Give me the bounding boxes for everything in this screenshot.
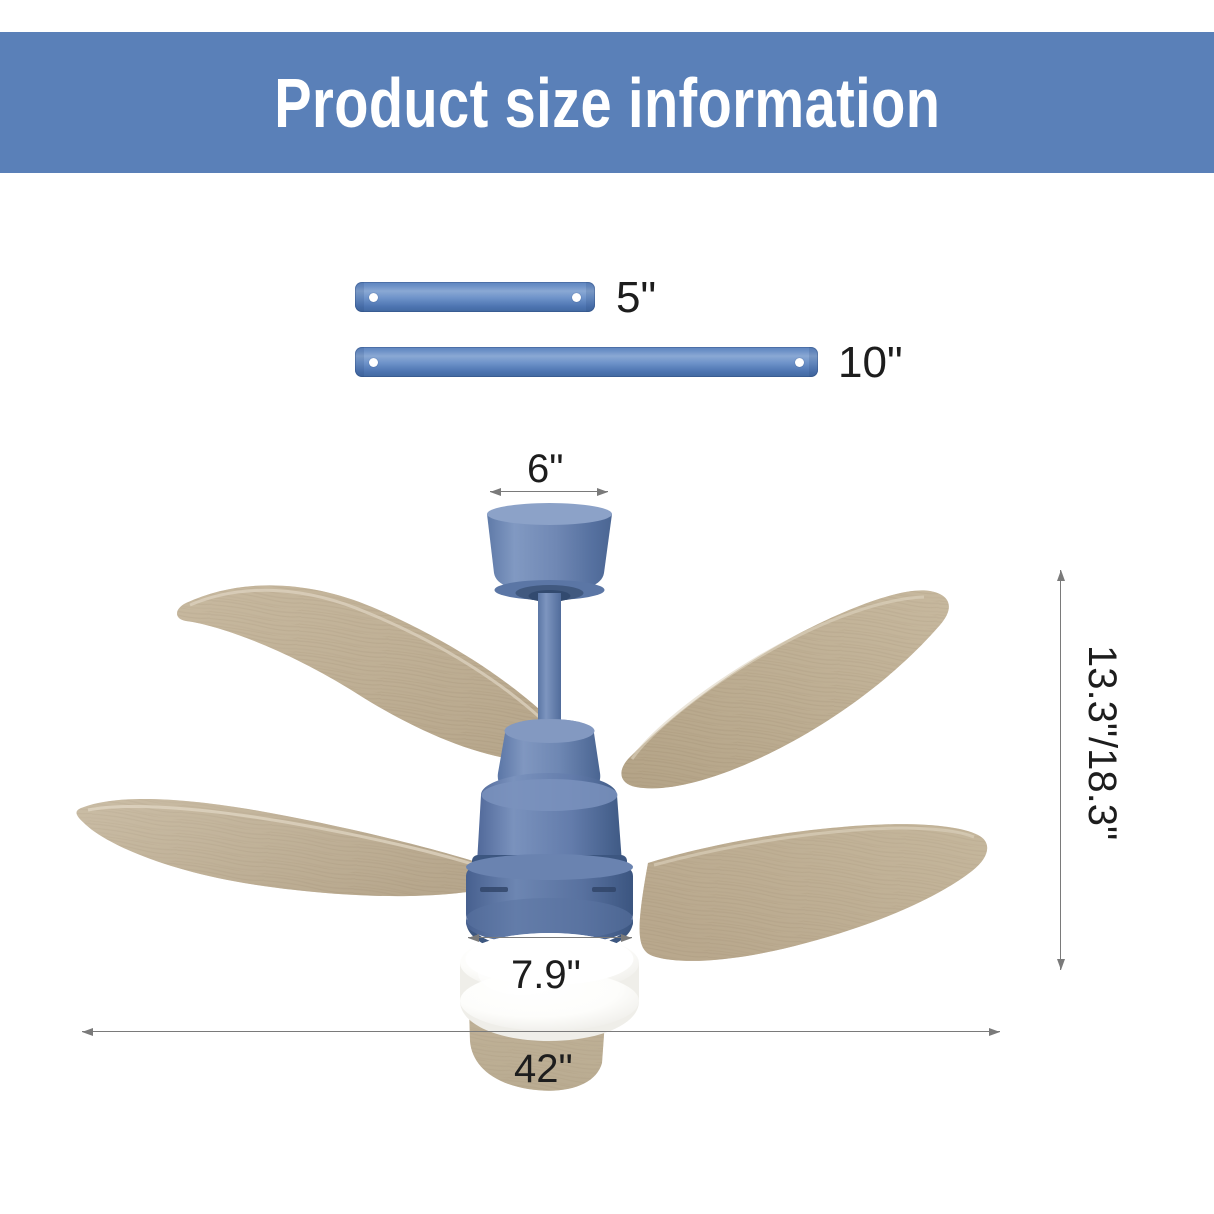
- page-header-banner: Product size information: [0, 32, 1214, 173]
- fan-blade-lower-left: [77, 799, 502, 896]
- fan-height-dimension-line: [1060, 570, 1061, 970]
- fan-blade-lower-right: [640, 824, 988, 961]
- light-kit-width-label: 7.9": [511, 955, 581, 995]
- blade-span-dimension-line: [82, 1031, 1000, 1032]
- fan-height-label: 13.3"/18.3": [1082, 645, 1122, 840]
- ceiling-fan-illustration: [0, 173, 1214, 1214]
- fan-blade-upper-right: [621, 590, 948, 788]
- page-title: Product size information: [274, 68, 940, 138]
- diagram-stage: 5" 10" 6": [0, 173, 1214, 1214]
- blade-span-label: 42": [514, 1049, 573, 1089]
- light-kit-width-dimension-line: [468, 937, 632, 938]
